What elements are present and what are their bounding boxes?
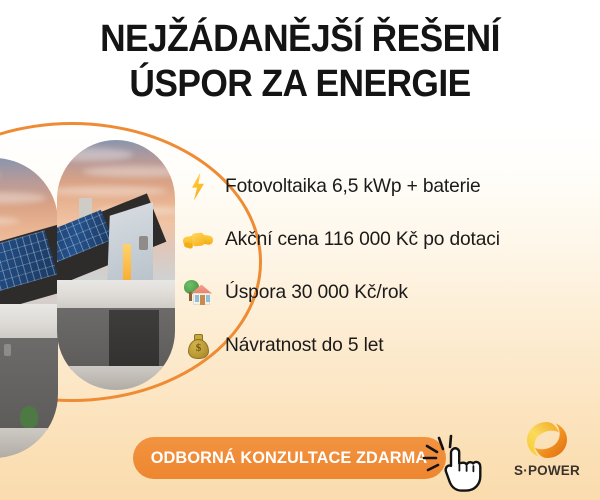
money-bag-icon: $ <box>183 331 213 361</box>
spower-ring-icon <box>525 420 569 460</box>
wall-lamp-primary <box>139 236 148 250</box>
house-with-garden-icon <box>183 278 213 308</box>
house-solar-scene <box>0 158 58 458</box>
wall-lamp <box>4 344 11 356</box>
solar-promo-banner: NEJŽÁDANĚJŠÍ ŘEŠENÍ ÚSPOR ZA ENERGIE Fot… <box>0 0 600 500</box>
feature-label: Fotovoltaika 6,5 kWp + baterie <box>225 175 481 198</box>
list-item: Úspora 30 000 Kč/rok <box>183 266 583 319</box>
feature-label: Úspora 30 000 Kč/rok <box>225 281 408 304</box>
house-photo-pill-secondary <box>0 158 58 458</box>
spower-logo: S·POWER <box>505 420 589 488</box>
handshake-icon <box>183 225 213 255</box>
list-item: $ Návratnost do 5 let <box>183 319 583 372</box>
driveway-primary <box>57 366 175 390</box>
cta-button-label: ODBORNÁ KONZULTACE ZDARMA <box>151 448 427 468</box>
house-solar-scene-primary <box>57 140 175 390</box>
shrub <box>20 406 38 428</box>
headline-line-1: NEJŽÁDANĚJŠÍ ŘEŠENÍ <box>21 17 579 62</box>
page-title: NEJŽÁDANĚJŠÍ ŘEŠENÍ ÚSPOR ZA ENERGIE <box>0 17 600 107</box>
spower-wordmark: S·POWER <box>505 463 589 478</box>
upper-wall-primary <box>57 280 175 308</box>
finger-lines <box>459 465 473 471</box>
feature-label: Návratnost do 5 let <box>225 334 383 357</box>
headline-line-2: ÚSPOR ZA ENERGIE <box>21 62 579 107</box>
garage-door <box>109 310 159 370</box>
list-item: Fotovoltaika 6,5 kWp + baterie <box>183 160 583 213</box>
lightning-bolt-icon <box>183 172 213 202</box>
upper-wall <box>0 304 58 338</box>
list-item: Akční cena 116 000 Kč po dotaci <box>183 213 583 266</box>
free-consultation-button[interactable]: ODBORNÁ KONZULTACE ZDARMA <box>133 437 446 479</box>
house-photo-pill-primary <box>57 140 175 390</box>
feature-list: Fotovoltaika 6,5 kWp + baterie Akční cen… <box>183 160 583 372</box>
hand-shape <box>446 448 481 490</box>
feature-label: Akční cena 116 000 Kč po dotaci <box>225 228 500 251</box>
driveway <box>0 428 58 458</box>
